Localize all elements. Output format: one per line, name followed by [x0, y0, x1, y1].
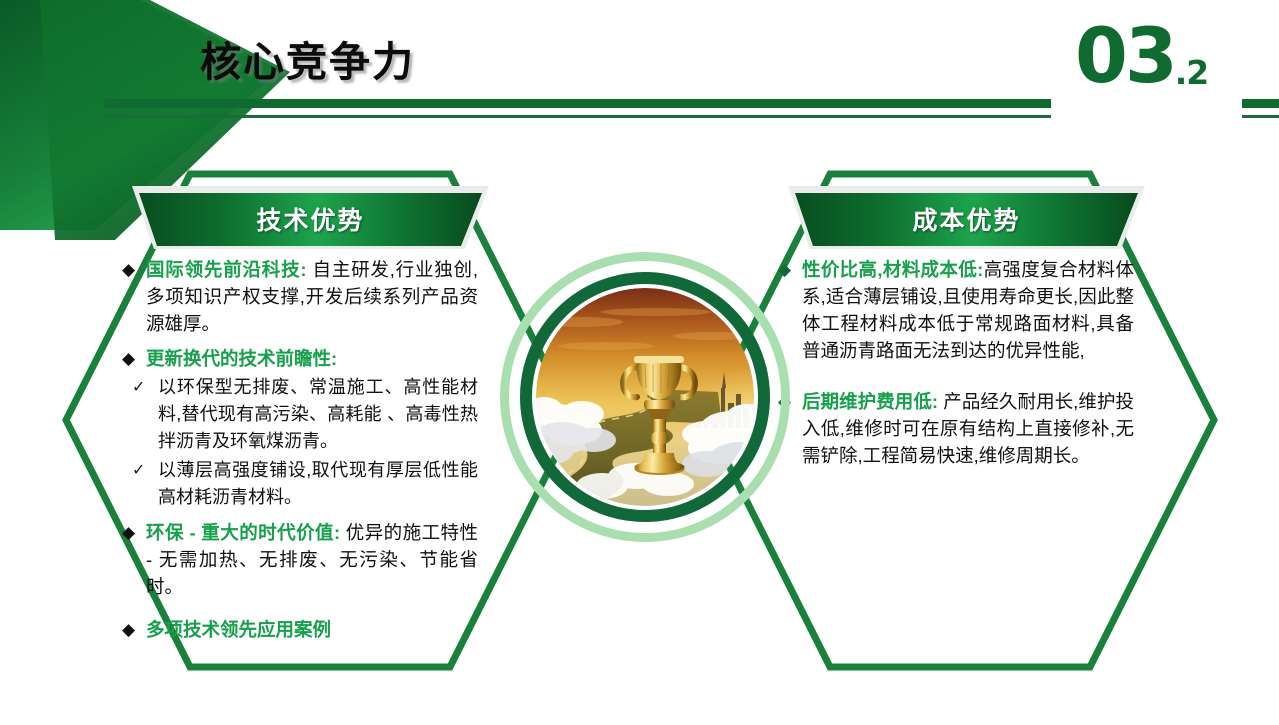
slide-canvas: 核心竞争力 03.2 技术优势	[0, 0, 1279, 725]
page-title: 核心竞争力	[200, 28, 415, 88]
diamond-bullet-icon: ◆	[122, 519, 146, 546]
title-rule-thin-right	[1242, 115, 1279, 118]
list-item: ◆ 性价比高,材料成本低:高强度复合材料体系,适合薄层铺设,且使用寿命更长,因此…	[778, 256, 1134, 364]
spacer	[778, 366, 1134, 388]
diamond-bullet-icon: ◆	[122, 345, 146, 372]
right-banner-label: 成本优势	[788, 201, 1145, 237]
right-bullet-list: ◆ 性价比高,材料成本低:高强度复合材料体系,适合薄层铺设,且使用寿命更长,因此…	[778, 256, 1134, 471]
bullet-content: 环保 - 重大的时代价值: 优异的施工特性 - 无需加热、无排废、无污染、节能省…	[146, 519, 478, 600]
bullet-content: 以薄层高强度铺设,取代现有厚层低性能高材耗沥青材料。	[158, 457, 478, 511]
list-item: ✓ 以薄层高强度铺设,取代现有厚层低性能高材耗沥青材料。	[122, 457, 478, 511]
list-item: ◆ 国际领先前沿科技: 自主研发,行业独创,多项知识产权支撑,开发后续系列产品资…	[122, 256, 478, 337]
medallion-outer-ring	[500, 252, 790, 542]
list-item: ◆ 更新换代的技术前瞻性:	[122, 345, 478, 372]
spacer	[122, 602, 478, 616]
bullet-heading: 国际领先前沿科技:	[146, 259, 307, 280]
section-number: 03.2	[1075, 18, 1208, 94]
bullet-content: 国际领先前沿科技: 自主研发,行业独创,多项知识产权支撑,开发后续系列产品资源雄…	[146, 256, 478, 337]
left-banner-label-wrap: 技术优势	[132, 186, 489, 249]
list-item: ◆ 后期维护费用低: 产品经久耐用长,维护投入低,维修时可在原有结构上直接修补,…	[778, 388, 1134, 469]
bullet-heading: 性价比高,材料成本低:	[802, 259, 983, 280]
bullet-content: 后期维护费用低: 产品经久耐用长,维护投入低,维修时可在原有结构上直接修补,无需…	[802, 388, 1134, 469]
right-banner-label-wrap: 成本优势	[788, 186, 1145, 249]
left-banner-label: 技术优势	[132, 201, 489, 237]
section-number-main: 03	[1075, 11, 1175, 100]
check-bullet-icon: ✓	[122, 457, 158, 484]
list-item: ◆ 多项技术领先应用案例	[122, 616, 478, 643]
bullet-content: 更新换代的技术前瞻性:	[146, 345, 478, 372]
bullet-heading: 多项技术领先应用案例	[146, 619, 331, 640]
bullet-content: 多项技术领先应用案例	[146, 616, 478, 643]
list-item: ◆ 环保 - 重大的时代价值: 优异的施工特性 - 无需加热、无排废、无污染、节…	[122, 519, 478, 600]
bullet-heading: 后期维护费用低:	[802, 391, 938, 412]
list-item: ✓ 以环保型无排废、常温施工、高性能材料,替代现有高污染、高耗能 、高毒性热拌沥…	[122, 374, 478, 455]
section-number-sub: .2	[1175, 53, 1209, 92]
bullet-heading: 更新换代的技术前瞻性:	[146, 348, 337, 369]
diamond-bullet-icon: ◆	[122, 256, 146, 283]
diamond-bullet-icon: ◆	[122, 616, 146, 643]
title-rule-thick	[104, 99, 1051, 108]
title-rule-thick-right	[1242, 99, 1279, 108]
bullet-content: 性价比高,材料成本低:高强度复合材料体系,适合薄层铺设,且使用寿命更长,因此整体…	[802, 256, 1134, 364]
center-medallion	[500, 252, 790, 542]
check-bullet-icon: ✓	[122, 374, 158, 401]
bullet-heading: 环保 - 重大的时代价值:	[146, 522, 340, 543]
title-rule-thin	[104, 115, 1051, 118]
left-bullet-list: ◆ 国际领先前沿科技: 自主研发,行业独创,多项知识产权支撑,开发后续系列产品资…	[122, 256, 478, 645]
bullet-content: 以环保型无排废、常温施工、高性能材料,替代现有高污染、高耗能 、高毒性热拌沥青及…	[158, 374, 478, 455]
